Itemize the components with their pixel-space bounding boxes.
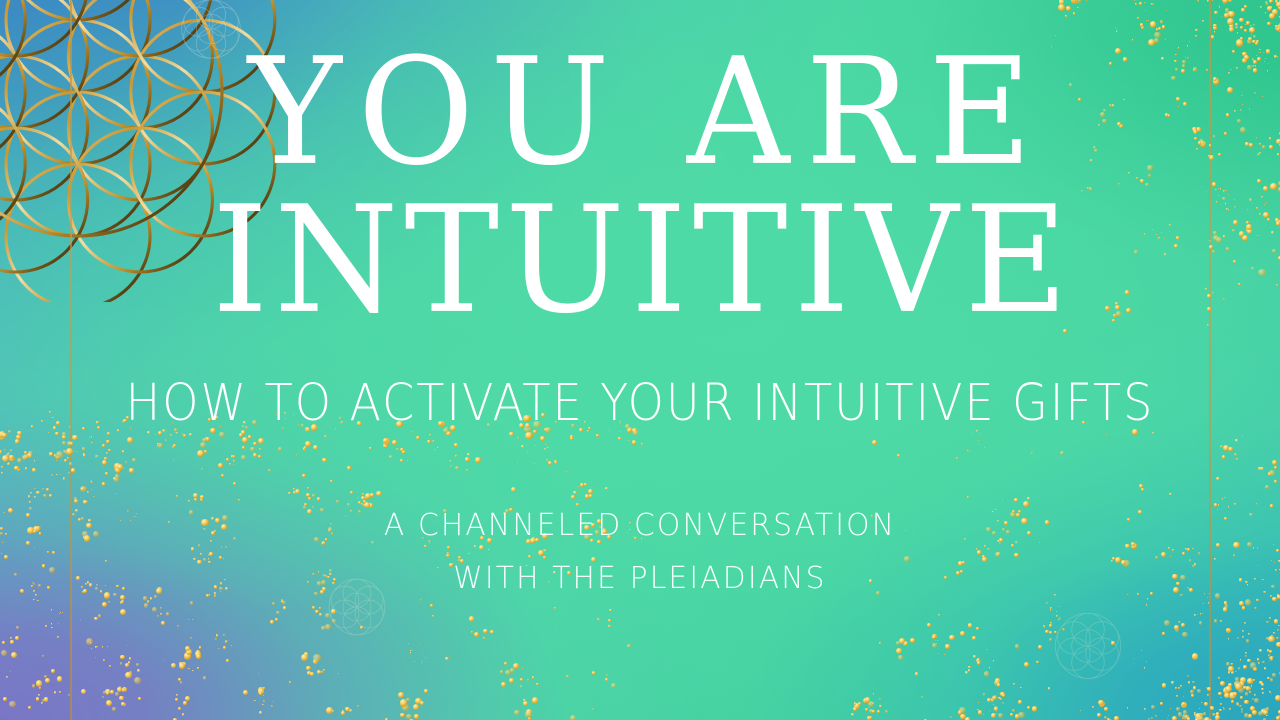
tagline: A CHANNELED CONVERSATION WITH THE PLEIAD… bbox=[6, 500, 1273, 605]
subtitle: HOW TO ACTIVATE YOUR INTUITIVE GIFTS bbox=[13, 374, 1267, 433]
slide-text: YOU ARE INTUITIVE HOW TO ACTIVATE YOUR I… bbox=[0, 0, 1280, 720]
title-line-1: YOU ARE bbox=[0, 39, 1280, 187]
title-line-2: INTUITIVE bbox=[0, 187, 1280, 335]
title-slide: YOU ARE INTUITIVE HOW TO ACTIVATE YOUR I… bbox=[0, 0, 1280, 720]
tagline-line-1: A CHANNELED CONVERSATION bbox=[6, 500, 1273, 553]
tagline-line-2: WITH THE PLEIADIANS bbox=[6, 553, 1273, 606]
